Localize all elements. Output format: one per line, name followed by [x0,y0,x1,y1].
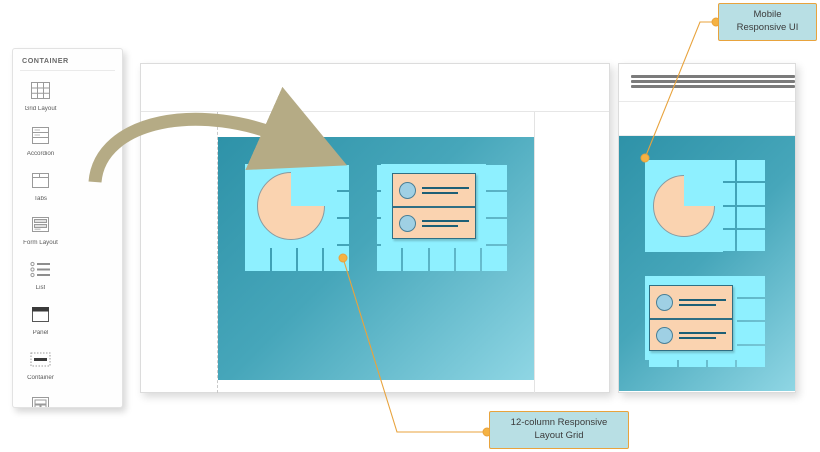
grid-cell [298,327,322,352]
card-row [650,286,732,318]
grid-cell [482,354,506,379]
accordion-icon [28,125,54,146]
grid-cell [219,354,243,379]
grid-cell [737,183,764,204]
grid-cell [737,207,764,228]
grid-cell [620,207,647,228]
mobile-viewport-mockup [618,63,796,393]
grid-cell [245,300,269,325]
pie-chart-icon [257,172,325,240]
container-icon [28,349,54,370]
grid-cell [737,346,764,367]
card-text-lines [422,220,469,227]
grid-cell [403,273,427,298]
palette-item-label: Form Layout [23,240,58,247]
grid-cell [272,354,296,379]
grid-cell [509,138,533,163]
palette-item-panel[interactable]: Panel [13,297,68,342]
palette-item-tile[interactable]: Tile [13,387,68,408]
grid-cell [620,253,647,274]
avatar-circle-icon [656,294,673,311]
grid-cell [737,369,764,390]
grid-cell [403,327,427,352]
card-row [393,174,475,206]
grid-cell [324,246,348,271]
grid-cell [620,276,647,297]
text-line [679,332,726,334]
grid-cell [351,219,375,244]
grid-cell [509,300,533,325]
grid-cell [324,273,348,298]
grid-cell [351,192,375,217]
palette-item-container[interactable]: Container [13,342,68,387]
grid-cell [403,246,427,271]
grid-cell [620,137,647,158]
grid-cell [377,354,401,379]
grid-cell [649,137,676,158]
grid-cell [430,300,454,325]
text-line [679,304,716,306]
grid-cell [403,138,427,163]
avatar-circle-icon [656,327,673,344]
grid-cell [509,327,533,352]
grid-cell [767,299,794,320]
grid-cell [324,354,348,379]
card-text-lines [679,332,726,339]
grid-cell [767,160,794,181]
grid-cell [767,230,794,251]
card-text-lines [679,299,726,306]
grid-cell [679,137,706,158]
mobile-subheader-bar [619,102,795,136]
grid-cell [272,300,296,325]
grid-cell [649,369,676,390]
palette-item-label: Panel [33,330,49,337]
grid-cell [430,138,454,163]
grid-cell [430,327,454,352]
grid-cell [219,219,243,244]
grid-cell [737,299,764,320]
grid-cell [482,246,506,271]
grid-cell [351,246,375,271]
grid-cell [298,246,322,271]
grid-cell [430,273,454,298]
grid-cell [767,183,794,204]
grid-cell [324,138,348,163]
grid-cell [351,138,375,163]
grid-cell [767,346,794,367]
grid-cell [351,273,375,298]
grid-cell [509,246,533,271]
callout-line-2: Layout Grid [497,430,621,443]
card-row [650,318,732,350]
grid-cell [272,246,296,271]
pie-chart-icon [653,175,715,237]
grid-layout-icon [28,80,54,101]
burger-line [631,85,795,88]
grid-cell [324,300,348,325]
layout-guide-right [534,112,535,393]
grid-cell [430,354,454,379]
grid-cell [219,138,243,163]
grid-cell [456,273,480,298]
grid-cell [767,253,794,274]
text-line [422,187,469,189]
desktop-content-area [141,112,609,393]
grid-cell [767,322,794,343]
grid-cell [482,300,506,325]
grid-cell [245,273,269,298]
callout-mobile-responsive-ui: Mobile Responsive UI [718,3,817,41]
grid-cell [708,137,735,158]
grid-cell [272,327,296,352]
palette-item-label: Container [27,375,54,382]
avatar-circle-icon [399,215,416,232]
card-list [392,173,476,239]
text-line [679,299,726,301]
grid-cell [767,276,794,297]
palette-item-label: Accordion [27,151,55,158]
grid-cell [298,354,322,379]
grid-cell [219,192,243,217]
component-palette: CONTAINER Grid Layout [12,48,123,408]
grid-cell [245,246,269,271]
callout-layout-grid: 12-column Responsive Layout Grid [489,411,629,449]
grid-cell [298,300,322,325]
card-list-widget-desktop[interactable] [381,164,486,248]
grid-cell [272,138,296,163]
panel-icon [28,304,54,325]
palette-item-label: List [36,285,46,292]
grid-cell [219,273,243,298]
mobile-header-bar [619,64,795,102]
text-line [422,192,459,194]
palette-item-list[interactable]: List [13,252,68,297]
grid-cell [482,273,506,298]
callout-line-2: Responsive UI [726,22,809,35]
grid-cell [482,327,506,352]
grid-cell [620,160,647,181]
callout-line-1: 12-column Responsive [497,417,621,430]
callout-line-1: Mobile [726,9,809,22]
palette-items-container: Grid Layout Accordion [13,71,122,408]
list-icon [28,259,54,280]
grid-cell [403,300,427,325]
grid-cell [456,246,480,271]
grid-cell [245,327,269,352]
grid-cell [377,246,401,271]
palette-item-accordion[interactable]: Accordion [13,118,68,163]
grid-cell [298,273,322,298]
palette-item-form-layout[interactable]: Form Layout [13,207,68,252]
grid-cell [708,253,735,274]
grid-cell [324,327,348,352]
tile-icon [28,394,54,408]
grid-cell [377,273,401,298]
pie-chart-widget-desktop[interactable] [245,164,337,248]
grid-cell [767,137,794,158]
card-list [649,285,733,351]
grid-cell [456,354,480,379]
grid-cell [509,165,533,190]
grid-cell [509,219,533,244]
grid-cell [620,230,647,251]
grid-cell [351,354,375,379]
avatar-circle-icon [399,182,416,199]
desktop-header-bar [141,64,609,112]
grid-cell [351,327,375,352]
form-layout-icon [28,214,54,235]
grid-cell [298,138,322,163]
grid-cell [219,246,243,271]
hamburger-menu-icon[interactable] [631,75,795,88]
grid-cell [430,246,454,271]
grid-cell [767,207,794,228]
grid-cell [377,300,401,325]
grid-cell [679,253,706,274]
text-line [422,220,469,222]
grid-cell [456,300,480,325]
grid-cell [767,369,794,390]
desktop-viewport-mockup [140,63,610,393]
burger-line [631,75,795,78]
grid-cell [620,322,647,343]
grid-cell [377,327,401,352]
palette-section-title-container: CONTAINER [13,49,122,70]
card-text-lines [422,187,469,194]
grid-cell [351,300,375,325]
text-line [679,337,716,339]
palette-item-label: Tabs [34,196,47,203]
grid-cell [649,253,676,274]
grid-cell [509,273,533,298]
grid-cell [737,276,764,297]
grid-cell [737,253,764,274]
grid-cell [456,138,480,163]
grid-cell [737,137,764,158]
grid-cell [620,346,647,367]
grid-cell [737,230,764,251]
grid-cell [509,192,533,217]
mobile-content-area [619,136,795,391]
grid-cell [482,138,506,163]
grid-cell [377,138,401,163]
grid-cell [456,327,480,352]
screenshot-root: CONTAINER Grid Layout [0,0,820,452]
pie-chart-widget-mobile[interactable] [645,160,723,252]
grid-cell [620,299,647,320]
grid-cell [679,369,706,390]
grid-cell [351,165,375,190]
card-list-widget-mobile[interactable] [645,276,737,360]
palette-item-tabs[interactable]: Tabs [13,163,68,208]
grid-cell [509,354,533,379]
grid-cell [219,165,243,190]
card-row [393,206,475,238]
grid-cell [620,183,647,204]
palette-item-grid-layout[interactable]: Grid Layout [13,73,68,118]
grid-cell [737,160,764,181]
burger-line [631,80,795,83]
grid-cell [219,300,243,325]
grid-cell [219,327,243,352]
grid-cell [245,138,269,163]
grid-cell [245,354,269,379]
grid-cell [403,354,427,379]
tabs-icon [28,170,54,191]
grid-cell [620,369,647,390]
text-line [422,225,459,227]
grid-cell [708,369,735,390]
palette-item-label: Grid Layout [25,106,57,113]
grid-cell [272,273,296,298]
grid-cell [737,322,764,343]
